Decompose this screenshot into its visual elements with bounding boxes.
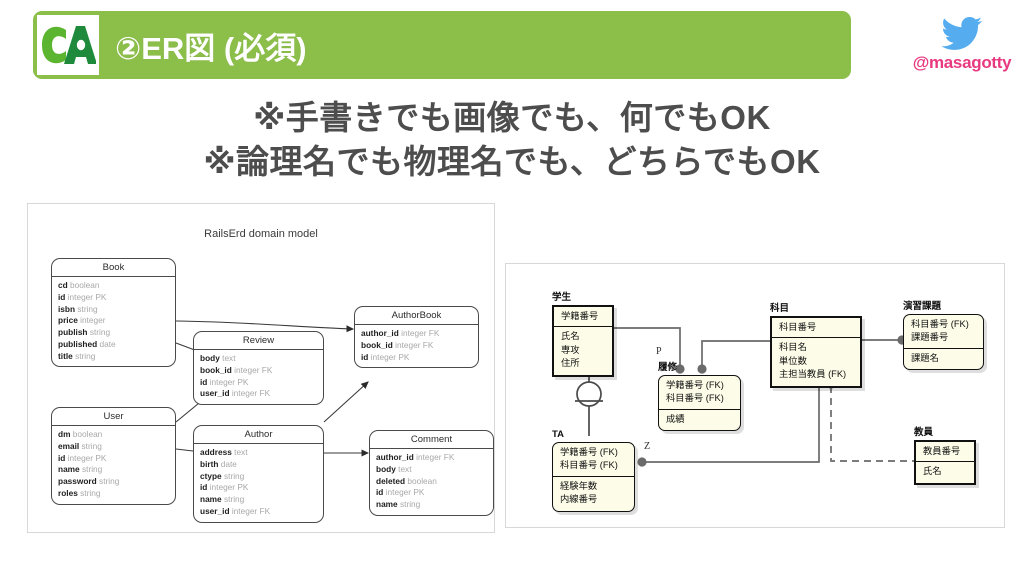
- entity-review-name: Review: [194, 332, 323, 350]
- entity-faculty-box: 教員番号 氏名: [914, 440, 976, 485]
- entity-comment: Comment author_id integer FK body text d…: [369, 430, 494, 516]
- header-bar: ②ER図 (必須): [33, 11, 851, 79]
- entity-authorbook-attributes: author_id integer FK book_id integer FK …: [355, 325, 478, 367]
- entity-author-name: Author: [194, 426, 323, 444]
- ca-logo: [37, 15, 99, 75]
- page-title: ②ER図 (必須): [115, 23, 307, 68]
- entity-assignment-keys: 科目番号 (FK) 課題番号: [904, 315, 983, 349]
- entity-ta-attributes: 経験年数 内線番号: [553, 477, 634, 511]
- entity-student-box: 学籍番号 氏名 専攻 住所: [552, 305, 614, 377]
- entity-subject-name: 科目: [770, 300, 862, 314]
- entity-enrollment: 履修 学籍番号 (FK) 科目番号 (FK) 成績: [658, 359, 741, 431]
- entity-enrollment-keys: 学籍番号 (FK) 科目番号 (FK): [659, 376, 740, 410]
- entity-subject-box: 科目番号 科目名 単位数 主担当教員 (FK): [770, 316, 862, 388]
- entity-faculty-name: 教員: [914, 424, 976, 438]
- entity-book-name: Book: [52, 259, 175, 277]
- entity-assignment-name: 演習課題: [903, 298, 984, 312]
- entity-book-attributes: cd boolean id integer PK isbn string pri…: [52, 277, 175, 366]
- entity-user-name: User: [52, 408, 175, 426]
- idef1x-diagram-panel: 学生 学籍番号 氏名 専攻 住所 履修 学籍番号 (FK) 科目番号 (FK) …: [505, 263, 1005, 528]
- entity-subject-attributes: 科目名 単位数 主担当教員 (FK): [772, 338, 860, 385]
- entity-review: Review body text book_id integer FK id i…: [193, 331, 324, 405]
- entity-ta-keys: 学籍番号 (FK) 科目番号 (FK): [553, 443, 634, 477]
- twitter-block: @masagotty: [900, 16, 1024, 88]
- entity-assignment: 演習課題 科目番号 (FK) 課題番号 課題名: [903, 298, 984, 370]
- entity-enrollment-attributes: 成績: [659, 410, 740, 430]
- entity-faculty: 教員 教員番号 氏名: [914, 424, 976, 485]
- entity-enrollment-box: 学籍番号 (FK) 科目番号 (FK) 成績: [658, 375, 741, 431]
- entity-authorbook: AuthorBook author_id integer FK book_id …: [354, 306, 479, 368]
- z-label: Z: [644, 441, 650, 452]
- entity-subject-keys: 科目番号: [772, 318, 860, 338]
- entity-student-name: 学生: [552, 289, 614, 303]
- twitter-handle: @masagotty: [913, 53, 1012, 73]
- twitter-bird-icon: [941, 16, 983, 52]
- entity-ta-name: TA: [552, 429, 635, 440]
- entity-assignment-box: 科目番号 (FK) 課題番号 課題名: [903, 314, 984, 370]
- entity-student-attributes: 氏名 専攻 住所: [554, 327, 612, 374]
- entity-author-attributes: address text birth date ctype string id …: [194, 444, 323, 522]
- entity-student-keys: 学籍番号: [554, 307, 612, 327]
- entity-comment-name: Comment: [370, 431, 493, 449]
- subtitle-line-2: ※論理名でも物理名でも、どちらでもOK: [0, 140, 1024, 184]
- entity-faculty-attributes: 氏名: [916, 462, 974, 482]
- entity-book: Book cd boolean id integer PK isbn strin…: [51, 258, 176, 367]
- entity-authorbook-name: AuthorBook: [355, 307, 478, 325]
- entity-comment-attributes: author_id integer FK body text deleted b…: [370, 449, 493, 515]
- entity-ta: TA 学籍番号 (FK) 科目番号 (FK) 経験年数 内線番号: [552, 429, 635, 512]
- subtitle-block: ※手書きでも画像でも、何でもOK ※論理名でも物理名でも、どちらでもOK: [0, 96, 1024, 183]
- entity-subject: 科目 科目番号 科目名 単位数 主担当教員 (FK): [770, 300, 862, 388]
- entity-enrollment-name: 履修: [658, 359, 741, 373]
- entity-author: Author address text birth date ctype str…: [193, 425, 324, 523]
- entity-assignment-attributes: 課題名: [904, 349, 983, 369]
- entity-review-attributes: body text book_id integer FK id integer …: [194, 350, 323, 404]
- railserd-diagram-panel: RailsErd domain model Book cd boolean id…: [27, 203, 495, 533]
- ca-logo-icon: [40, 22, 96, 68]
- subtitle-line-1: ※手書きでも画像でも、何でもOK: [0, 96, 1024, 140]
- p-label: P: [656, 346, 662, 357]
- entity-ta-box: 学籍番号 (FK) 科目番号 (FK) 経験年数 内線番号: [552, 442, 635, 512]
- entity-faculty-keys: 教員番号: [916, 442, 974, 462]
- entity-user-attributes: dm boolean email string id integer PK na…: [52, 426, 175, 504]
- entity-student: 学生 学籍番号 氏名 専攻 住所: [552, 289, 614, 377]
- entity-user: User dm boolean email string id integer …: [51, 407, 176, 505]
